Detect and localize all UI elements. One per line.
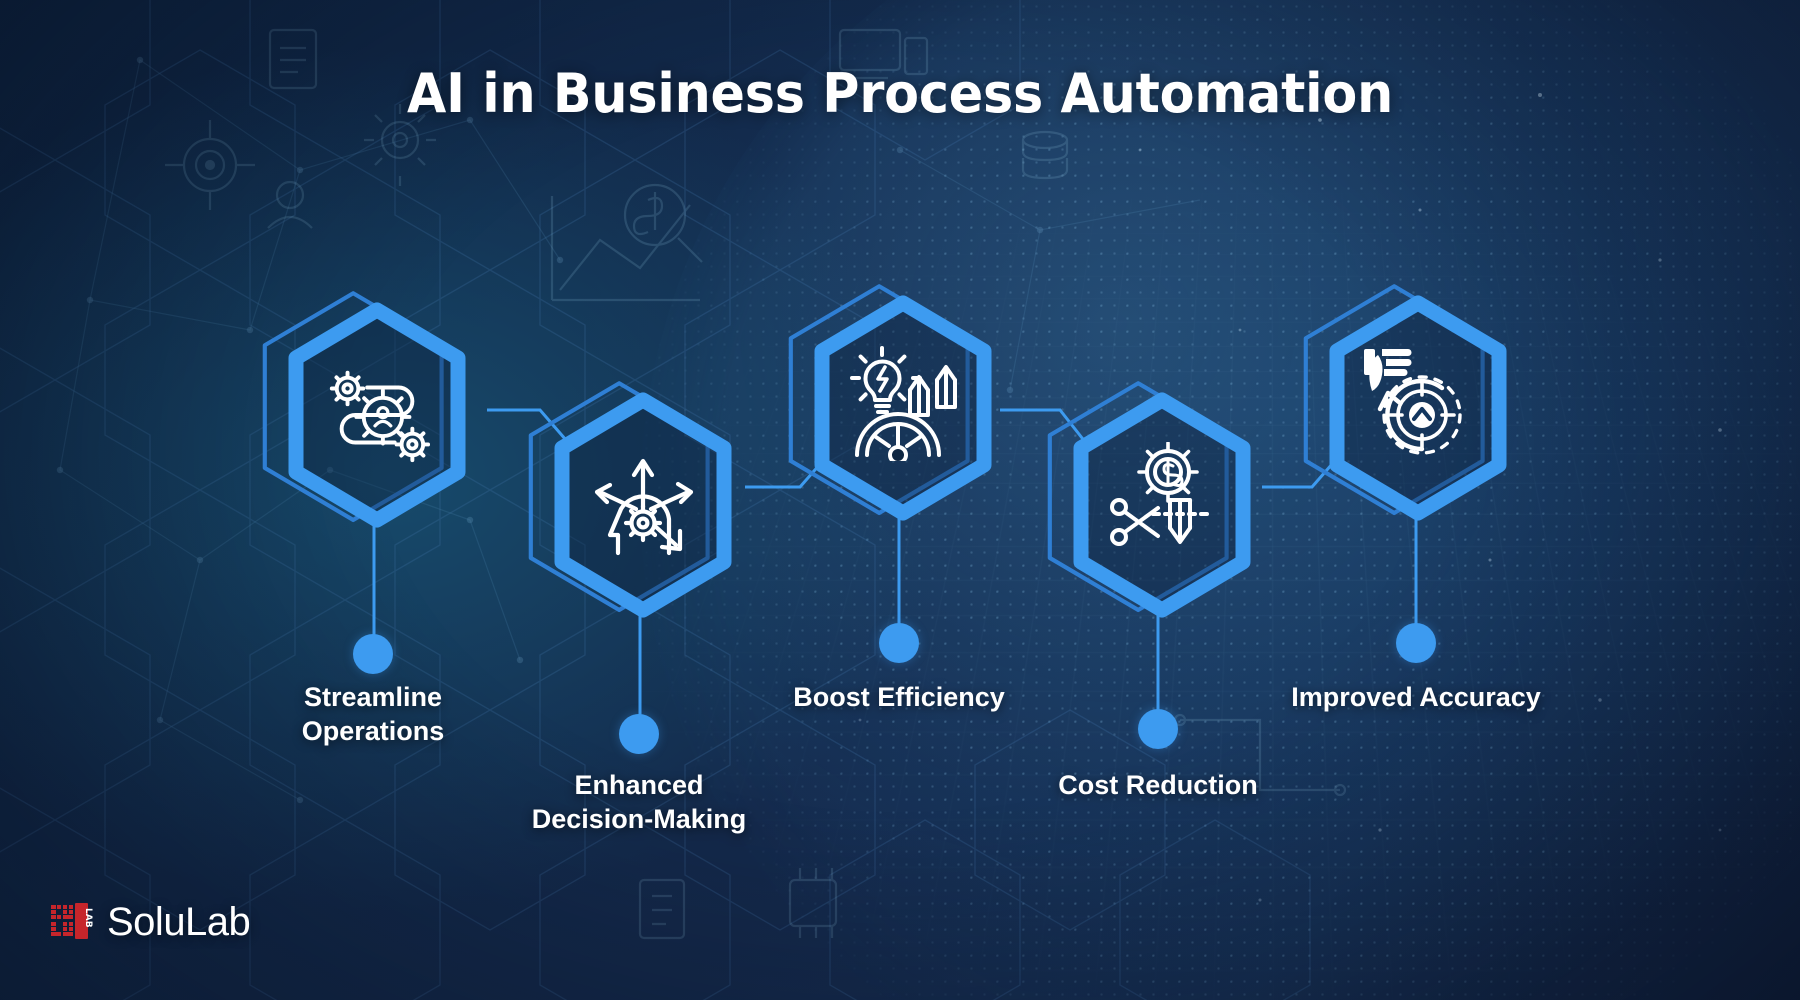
node-label-enhanced-decision-making: Enhanced Decision-Making [489,768,789,837]
solulab-pixel-mark: LAB [50,901,94,945]
node-dot-4[interactable] [1138,709,1178,749]
node-label-improved-accuracy: Improved Accuracy [1266,680,1566,714]
infographic-canvas: AI in Business Process Automation [0,0,1800,1000]
svg-text:LAB: LAB [83,908,93,928]
stem-line-3 [895,514,903,632]
node-label-streamline-operations: Streamline Operations [233,680,513,749]
hexagon-ring-5[interactable] [1313,293,1523,523]
brand-name: SoluLab [107,900,250,945]
node-dot-5[interactable] [1396,623,1436,663]
node-label-cost-reduction: Cost Reduction [1008,768,1308,802]
stem-line-2 [636,610,644,730]
stem-line-1 [370,520,378,640]
node-label-boost-efficiency: Boost Efficiency [749,680,1049,714]
node-dot-1[interactable] [353,634,393,674]
hexagon-ring-1[interactable] [272,300,482,530]
node-dot-3[interactable] [879,623,919,663]
hexagon-ring-4[interactable] [1057,390,1267,620]
node-dot-2[interactable] [619,714,659,754]
stem-line-5 [1412,514,1420,632]
hexagon-ring-3[interactable] [798,293,1008,523]
hexagon-ring-2[interactable] [538,390,748,620]
brand-logo[interactable]: LAB SoluLab [50,900,250,945]
